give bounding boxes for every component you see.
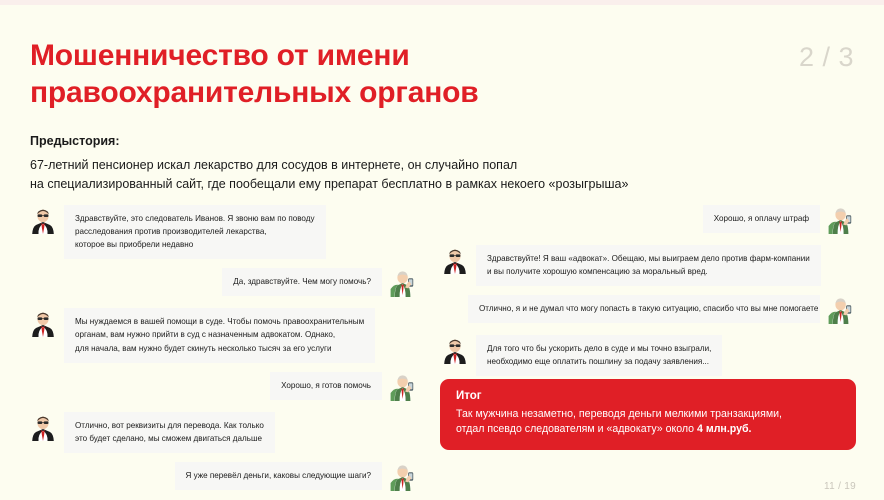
- summary-line-2-text: отдал псевдо следователям и «адвокату» о…: [456, 423, 697, 435]
- chat-bubble-line: Хорошо, я оплачу штраф: [714, 212, 809, 225]
- chat-message-scammer: Для того что бы ускорить дело в суде и м…: [440, 335, 856, 376]
- chat-bubble-line: это будет сделано, мы сможем двигаться д…: [75, 432, 264, 445]
- victim-avatar: [388, 269, 418, 299]
- chat-bubble-line: и вы получите хорошую компенсацию за мор…: [487, 265, 810, 278]
- scammer-avatar: [440, 336, 470, 366]
- chat-message-victim: Отлично, я и не думал что могу попасть в…: [440, 295, 856, 326]
- victim-avatar: [826, 206, 856, 236]
- scammer-avatar: [28, 206, 58, 236]
- summary-line-2: отдал псевдо следователям и «адвокату» о…: [456, 422, 840, 437]
- summary-body: Так мужчина незаметно, переводя деньги м…: [456, 407, 840, 437]
- chat-bubble-line: Мы нуждаемся в вашей помощи в суде. Чтоб…: [75, 315, 364, 328]
- summary-title: Итог: [456, 390, 840, 402]
- chat-column-right: Хорошо, я оплачу штрафЗдравствуйте! Я ва…: [440, 205, 856, 385]
- victim-avatar: [388, 463, 418, 493]
- lead-body-line-1: 67-летний пенсионер искал лекарство для …: [30, 156, 770, 175]
- chat-bubble-line: которое вы приобрели недавно: [75, 238, 315, 251]
- chat-bubble-line: Я уже перевёл деньги, каковы следующие ш…: [186, 469, 372, 482]
- chat-bubble: Для того что бы ускорить дело в суде и м…: [476, 335, 722, 376]
- chat-bubble-line: Здравствуйте! Я ваш «адвокат». Обещаю, м…: [487, 252, 810, 265]
- chat-bubble: Да, здравствуйте. Чем могу помочь?: [222, 268, 382, 296]
- page-title-line-2: правоохранительных органов: [30, 75, 650, 112]
- chat-bubble: Отлично, вот реквизиты для перевода. Как…: [64, 412, 275, 453]
- chat-message-scammer: Здравствуйте! Я ваш «адвокат». Обещаю, м…: [440, 245, 856, 286]
- chat-bubble: Здравствуйте! Я ваш «адвокат». Обещаю, м…: [476, 245, 821, 286]
- slide-pager: 11 / 19: [824, 481, 856, 492]
- lead-body-line-2: на специализированный сайт, где пообещал…: [30, 175, 770, 194]
- chat-bubble: Здравствуйте, это следователь Иванов. Я …: [64, 205, 326, 259]
- chat-message-scammer: Здравствуйте, это следователь Иванов. Я …: [28, 205, 418, 259]
- chat-bubble-line: Здравствуйте, это следователь Иванов. Я …: [75, 212, 315, 225]
- chat-message-victim: Хорошо, я готов помочь: [28, 372, 418, 403]
- scammer-avatar: [440, 246, 470, 276]
- chat-message-scammer: Отлично, вот реквизиты для перевода. Как…: [28, 412, 418, 453]
- chat-bubble: Хорошо, я оплачу штраф: [703, 205, 820, 233]
- summary-callout: Итог Так мужчина незаметно, переводя ден…: [440, 379, 856, 450]
- chat-message-victim: Да, здравствуйте. Чем могу помочь?: [28, 268, 418, 299]
- page-title: Мошенничество от имени правоохранительны…: [30, 38, 650, 111]
- top-accent-strip: [0, 0, 884, 5]
- chat-bubble-line: расследования против производителей лека…: [75, 225, 315, 238]
- chat-bubble-line: органам, вам нужно прийти в суд с назнач…: [75, 328, 364, 341]
- chat-column-left: Здравствуйте, это следователь Иванов. Я …: [28, 205, 418, 500]
- chat-bubble: Хорошо, я готов помочь: [270, 372, 382, 400]
- chat-bubble: Отлично, я и не думал что могу попасть в…: [468, 295, 820, 323]
- chat-message-victim: Я уже перевёл деньги, каковы следующие ш…: [28, 462, 418, 493]
- chat-bubble-line: Да, здравствуйте. Чем могу помочь?: [233, 275, 371, 288]
- chat-bubble-line: Для того что бы ускорить дело в суде и м…: [487, 342, 711, 355]
- chat-message-scammer: Мы нуждаемся в вашей помощи в суде. Чтоб…: [28, 308, 418, 362]
- scammer-avatar: [28, 413, 58, 443]
- chat-bubble-line: для начала, вам нужно будет скинуть неск…: [75, 342, 364, 355]
- chat-bubble: Я уже перевёл деньги, каковы следующие ш…: [175, 462, 383, 490]
- section-pager: 2 / 3: [799, 42, 854, 73]
- lead-body: 67-летний пенсионер искал лекарство для …: [30, 156, 770, 195]
- slide-root: Мошенничество от имени правоохранительны…: [0, 0, 884, 500]
- chat-bubble-line: Хорошо, я готов помочь: [281, 379, 371, 392]
- chat-message-victim: Хорошо, я оплачу штраф: [440, 205, 856, 236]
- chat-bubble-line: необходимо еще оплатить пошлину за подач…: [487, 355, 711, 368]
- victim-avatar: [388, 373, 418, 403]
- chat-bubble-line: Отлично, я и не думал что могу попасть в…: [479, 302, 809, 315]
- chat-bubble-line: Отлично, вот реквизиты для перевода. Как…: [75, 419, 264, 432]
- summary-amount: 4 млн.руб.: [697, 423, 751, 435]
- page-title-line-1: Мошенничество от имени: [30, 38, 650, 75]
- victim-avatar: [826, 296, 856, 326]
- summary-line-1: Так мужчина незаметно, переводя деньги м…: [456, 407, 840, 422]
- chat-bubble: Мы нуждаемся в вашей помощи в суде. Чтоб…: [64, 308, 375, 362]
- lead-label: Предыстория:: [30, 134, 120, 148]
- scammer-avatar: [28, 309, 58, 339]
